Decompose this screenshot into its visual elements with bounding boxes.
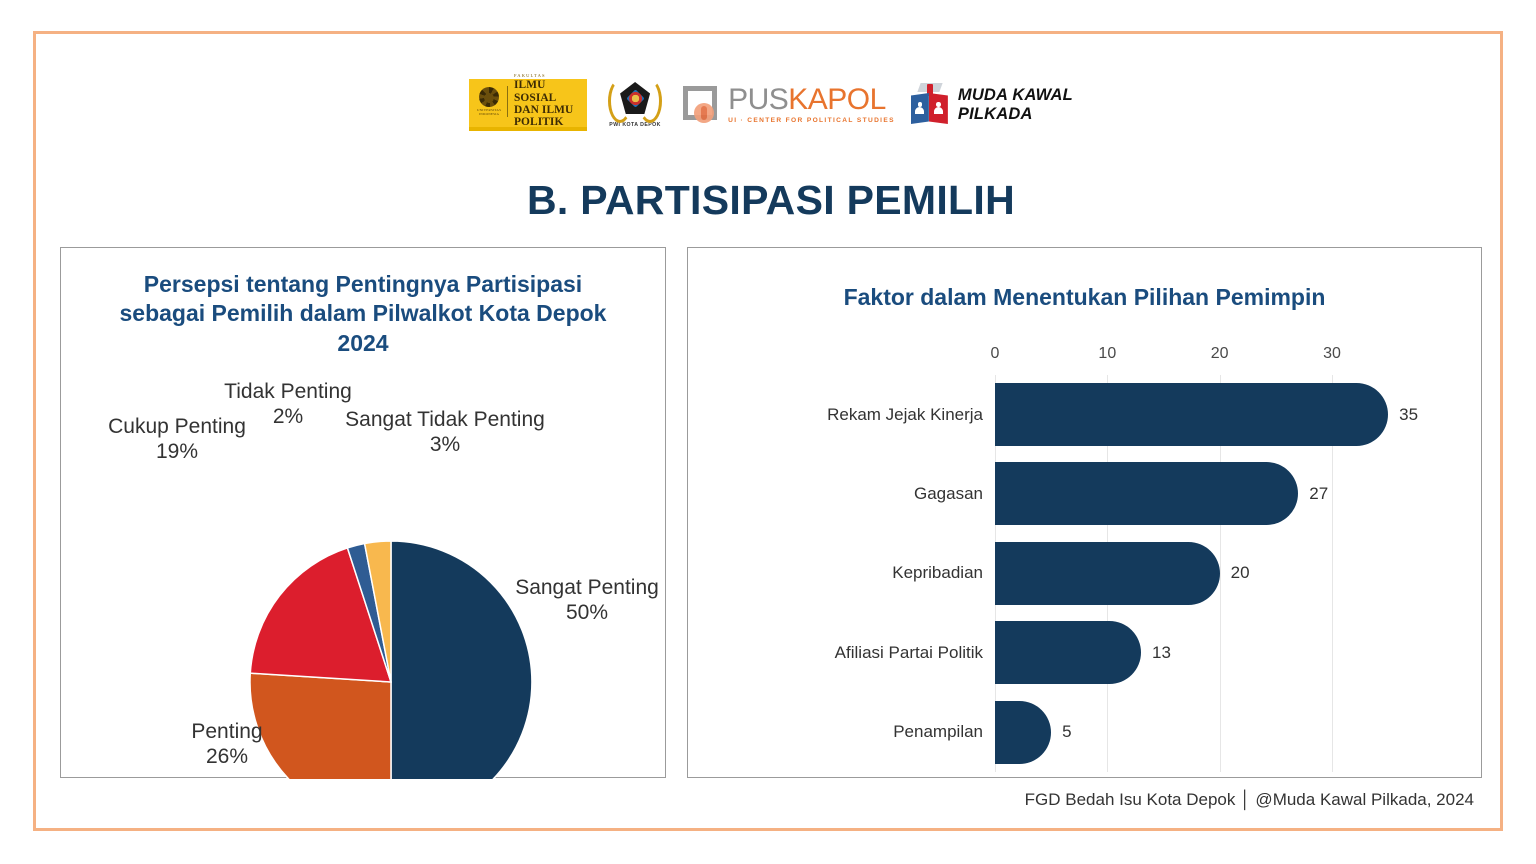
pie-label-name: Sangat Penting: [515, 576, 659, 599]
bar-value-label: 35: [1399, 405, 1418, 425]
ui-fisip-logo: UNIVERSITAS INDONESIA FAKULTAS ILMU SOSI…: [469, 79, 587, 131]
puskapol-name-part-2: KAPOL: [788, 83, 886, 116]
pie-label-cukup-penting: Cukup Penting 19%: [93, 414, 261, 464]
bar-category-label: Rekam Jejak Kinerja: [827, 405, 983, 425]
logo-strip: UNIVERSITAS INDONESIA FAKULTAS ILMU SOSI…: [36, 74, 1506, 136]
pie-label-name: Sangat Tidak Penting: [345, 408, 545, 431]
ui-seal-caption: UNIVERSITAS INDONESIA: [475, 109, 503, 117]
logo-divider: [507, 86, 508, 117]
mkp-wordmark: MUDA KAWAL PILKADA: [958, 86, 1073, 124]
pie-label-value: 50%: [492, 600, 682, 625]
pie-label-value: 19%: [93, 439, 261, 464]
pie-chart-panel: Persepsi tentang Pentingnya Partisipasi …: [60, 247, 666, 778]
slide-frame: UNIVERSITAS INDONESIA FAKULTAS ILMU SOSI…: [33, 31, 1503, 831]
pie-label-value: 26%: [167, 744, 287, 769]
bar-row: Penampilan5: [995, 693, 1332, 772]
puskapol-square-icon: [683, 86, 721, 124]
puskapol-tagline: UI · CENTER FOR POLITICAL STUDIES: [728, 118, 895, 125]
person-icon-left: [915, 102, 924, 115]
mkp-line-1: MUDA KAWAL: [958, 86, 1073, 105]
bar-category-label: Gagasan: [914, 484, 983, 504]
ballot-face-right: [929, 93, 948, 124]
bar-row: Gagasan27: [995, 454, 1332, 533]
mkp-line-2: PILKADA: [958, 105, 1073, 124]
muda-kawal-pilkada-logo: MUDA KAWAL PILKADA: [909, 78, 1073, 132]
pie-label-name: Tidak Penting: [224, 380, 352, 403]
puskapol-name: PUSKAPOL: [728, 85, 895, 115]
bar-plot: 0102030Rekam Jejak Kinerja35Gagasan27Kep…: [995, 375, 1332, 772]
bar-row: Kepribadian20: [995, 534, 1332, 613]
bar-category-label: Penampilan: [893, 722, 983, 742]
bar[interactable]: [995, 462, 1298, 525]
ui-seal-icon: [479, 87, 499, 107]
bar-row: Rekam Jejak Kinerja35: [995, 375, 1332, 454]
footer-note: FGD Bedah Isu Kota Depok │ @Muda Kawal P…: [1025, 790, 1474, 810]
pie-slices: [250, 541, 532, 779]
pwi-kota-depok-logo: PWI KOTA DEPOK: [601, 76, 669, 134]
bar-row: Afiliasi Partai Politik13: [995, 613, 1332, 692]
bar-value-label: 5: [1062, 722, 1071, 742]
bar-value-label: 13: [1152, 643, 1171, 663]
pwi-caption: PWI KOTA DEPOK: [609, 122, 661, 128]
bar-category-label: Kepribadian: [892, 563, 983, 583]
pie-label-penting: Penting 26%: [167, 719, 287, 769]
pie-label-sangat-tidak-penting: Sangat Tidak Penting 3%: [334, 407, 556, 457]
puskapol-wordmark: PUSKAPOL UI · CENTER FOR POLITICAL STUDI…: [728, 85, 895, 125]
pie-chart-area: Tidak Penting 2% Sangat Tidak Penting 3%…: [61, 248, 667, 779]
pie-label-sangat-penting: Sangat Penting 50%: [492, 575, 682, 625]
pie-label-value: 3%: [334, 432, 556, 457]
puskapol-name-part-1: PUS: [728, 83, 788, 116]
pie-chart-svg: [61, 248, 667, 779]
fisip-line-2: DAN ILMU: [514, 104, 583, 116]
x-axis-tick-label: 30: [1323, 345, 1341, 363]
bar[interactable]: [995, 383, 1388, 446]
bar-chart-area: 0102030Rekam Jejak Kinerja35Gagasan27Kep…: [688, 248, 1483, 779]
ballot-box-icon: [909, 83, 951, 127]
bar[interactable]: [995, 542, 1220, 605]
x-axis-tick-label: 10: [1098, 345, 1116, 363]
pie-label-name: Penting: [191, 720, 262, 743]
bar-value-label: 20: [1231, 563, 1250, 583]
x-axis-tick-label: 0: [991, 345, 1000, 363]
bar[interactable]: [995, 621, 1141, 684]
pie-label-name: Cukup Penting: [108, 415, 246, 438]
bar-category-label: Afiliasi Partai Politik: [835, 643, 983, 663]
fisip-wordmark: FAKULTAS ILMU SOSIAL DAN ILMU POLITIK: [514, 74, 583, 128]
bar-value-label: 27: [1309, 484, 1328, 504]
bar[interactable]: [995, 701, 1051, 764]
puskapol-person-icon: [694, 103, 714, 123]
page-title: B. PARTISIPASI PEMILIH: [36, 177, 1506, 224]
fisip-line-3: POLITIK: [514, 116, 583, 128]
ballot-face-left: [911, 93, 929, 124]
person-icon-right: [934, 102, 943, 115]
ui-makara-icon: UNIVERSITAS INDONESIA: [475, 83, 503, 121]
pwi-crest-icon: [607, 76, 663, 120]
bar-chart-panel: Faktor dalam Menentukan Pilihan Pemimpin…: [687, 247, 1482, 778]
puskapol-logo: PUSKAPOL UI · CENTER FOR POLITICAL STUDI…: [683, 78, 895, 132]
fisip-line-1: ILMU SOSIAL: [514, 79, 583, 104]
x-axis-tick-label: 20: [1211, 345, 1229, 363]
